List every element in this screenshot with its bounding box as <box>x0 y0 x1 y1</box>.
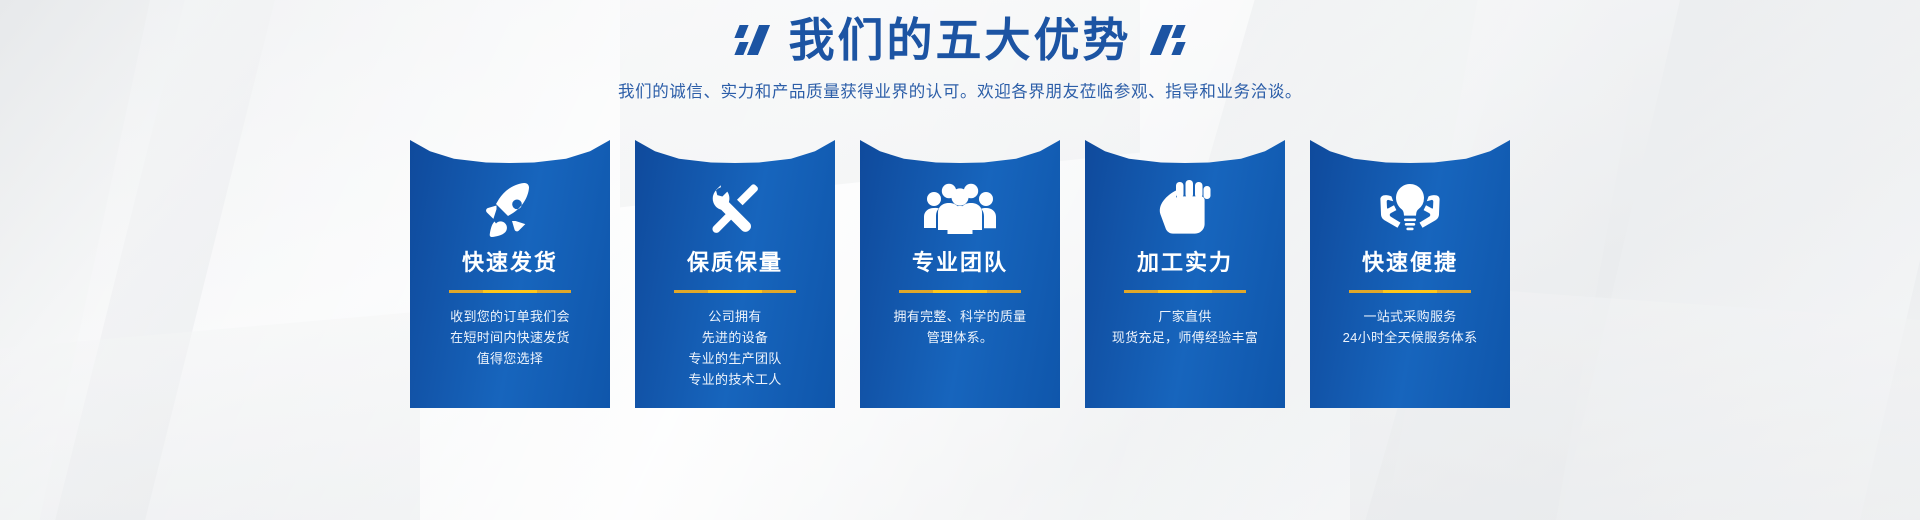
advantage-card-desc: 一站式采购服务 24小时全天候服务体系 <box>1318 306 1502 348</box>
page-subtitle: 我们的诚信、实力和产品质量获得业界的认可。欢迎各界朋友莅临参观、指导和业务洽谈。 <box>0 78 1920 102</box>
desc-line: 现货充足，师傅经验丰富 <box>1093 327 1277 348</box>
advantage-card-5[interactable]: 快速便捷 一站式采购服务 24小时全天候服务体系 <box>1310 140 1510 408</box>
advantages-banner: 我们的五大优势 我们的诚信、实力和产品质量获得业界的认可。欢迎各界朋友莅临参观、… <box>0 0 1920 520</box>
desc-line: 专业的技术工人 <box>643 369 827 390</box>
desc-line: 先进的设备 <box>643 327 827 348</box>
advantage-card-2[interactable]: 保质保量 公司拥有 先进的设备 专业的生产团队 专业的技术工人 <box>635 140 835 408</box>
advantage-card-4[interactable]: 加工实力 厂家直供 现货充足，师傅经验丰富 <box>1085 140 1285 408</box>
advantage-card-desc: 厂家直供 现货充足，师傅经验丰富 <box>1093 306 1277 348</box>
desc-line: 拥有完整、科学的质量 <box>868 306 1052 327</box>
card-divider <box>449 290 571 293</box>
advantage-card-title: 快速便捷 <box>1310 248 1510 278</box>
advantage-card-desc: 拥有完整、科学的质量 管理体系。 <box>868 306 1052 348</box>
title-row: 我们的五大优势 <box>0 12 1920 68</box>
desc-line: 在短时间内快速发货 <box>418 327 602 348</box>
advantage-card-list: 快速发货 收到您的订单我们会 在短时间内快速发货 值得您选择 <box>0 140 1920 408</box>
card-divider <box>1124 290 1246 293</box>
double-slash-left-icon <box>735 25 769 55</box>
fist-icon <box>1085 178 1285 240</box>
section-header: 我们的五大优势 我们的诚信、实力和产品质量获得业界的认可。欢迎各界朋友莅临参观、… <box>0 12 1920 102</box>
advantage-card-1[interactable]: 快速发货 收到您的订单我们会 在短时间内快速发货 值得您选择 <box>410 140 610 408</box>
card-divider <box>674 290 796 293</box>
lightbulb-hands-icon <box>1310 178 1510 240</box>
desc-line: 厂家直供 <box>1093 306 1277 327</box>
advantage-card-desc: 收到您的订单我们会 在短时间内快速发货 值得您选择 <box>418 306 602 369</box>
advantage-card-3[interactable]: 专业团队 拥有完整、科学的质量 管理体系。 <box>860 140 1060 408</box>
double-slash-right-icon <box>1152 25 1186 55</box>
advantage-card-title: 快速发货 <box>410 248 610 278</box>
desc-line: 收到您的订单我们会 <box>418 306 602 327</box>
page-title: 我们的五大优势 <box>789 12 1132 68</box>
card-divider <box>899 290 1021 293</box>
desc-line: 专业的生产团队 <box>643 348 827 369</box>
advantage-card-title: 加工实力 <box>1085 248 1285 278</box>
team-people-icon <box>860 178 1060 240</box>
desc-line: 管理体系。 <box>868 327 1052 348</box>
rocket-icon <box>410 178 610 240</box>
card-divider <box>1349 290 1471 293</box>
advantage-card-title: 专业团队 <box>860 248 1060 278</box>
desc-line: 24小时全天候服务体系 <box>1318 327 1502 348</box>
desc-line: 公司拥有 <box>643 306 827 327</box>
desc-line: 值得您选择 <box>418 348 602 369</box>
wrench-screwdriver-icon <box>635 178 835 240</box>
advantage-card-desc: 公司拥有 先进的设备 专业的生产团队 专业的技术工人 <box>643 306 827 390</box>
desc-line: 一站式采购服务 <box>1318 306 1502 327</box>
advantage-card-title: 保质保量 <box>635 248 835 278</box>
